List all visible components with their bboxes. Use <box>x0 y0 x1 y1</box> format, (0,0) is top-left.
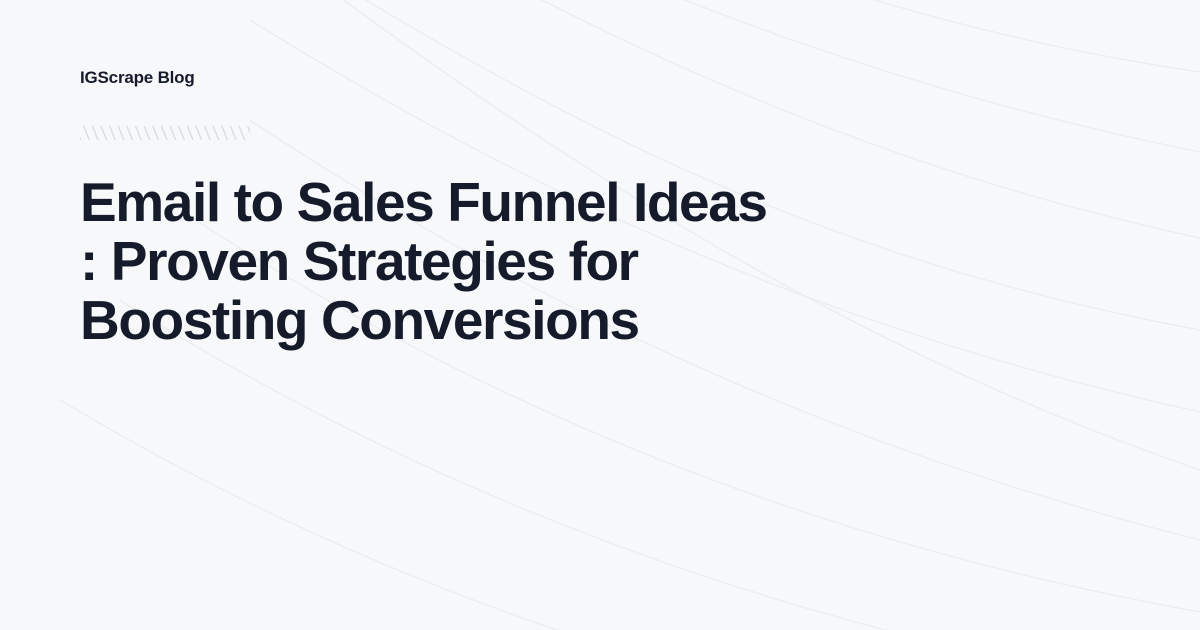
og-card: IGScrape Blog Email to Sales Funnel Idea… <box>0 0 1200 630</box>
arc-line <box>700 0 1200 72</box>
page-title: Email to Sales Funnel Ideas : Proven Str… <box>80 173 780 350</box>
arc-line <box>60 400 1100 630</box>
hatched-rule-divider <box>80 126 250 140</box>
blog-brand-label[interactable]: IGScrape Blog <box>80 68 195 88</box>
arc-line <box>520 0 1200 152</box>
